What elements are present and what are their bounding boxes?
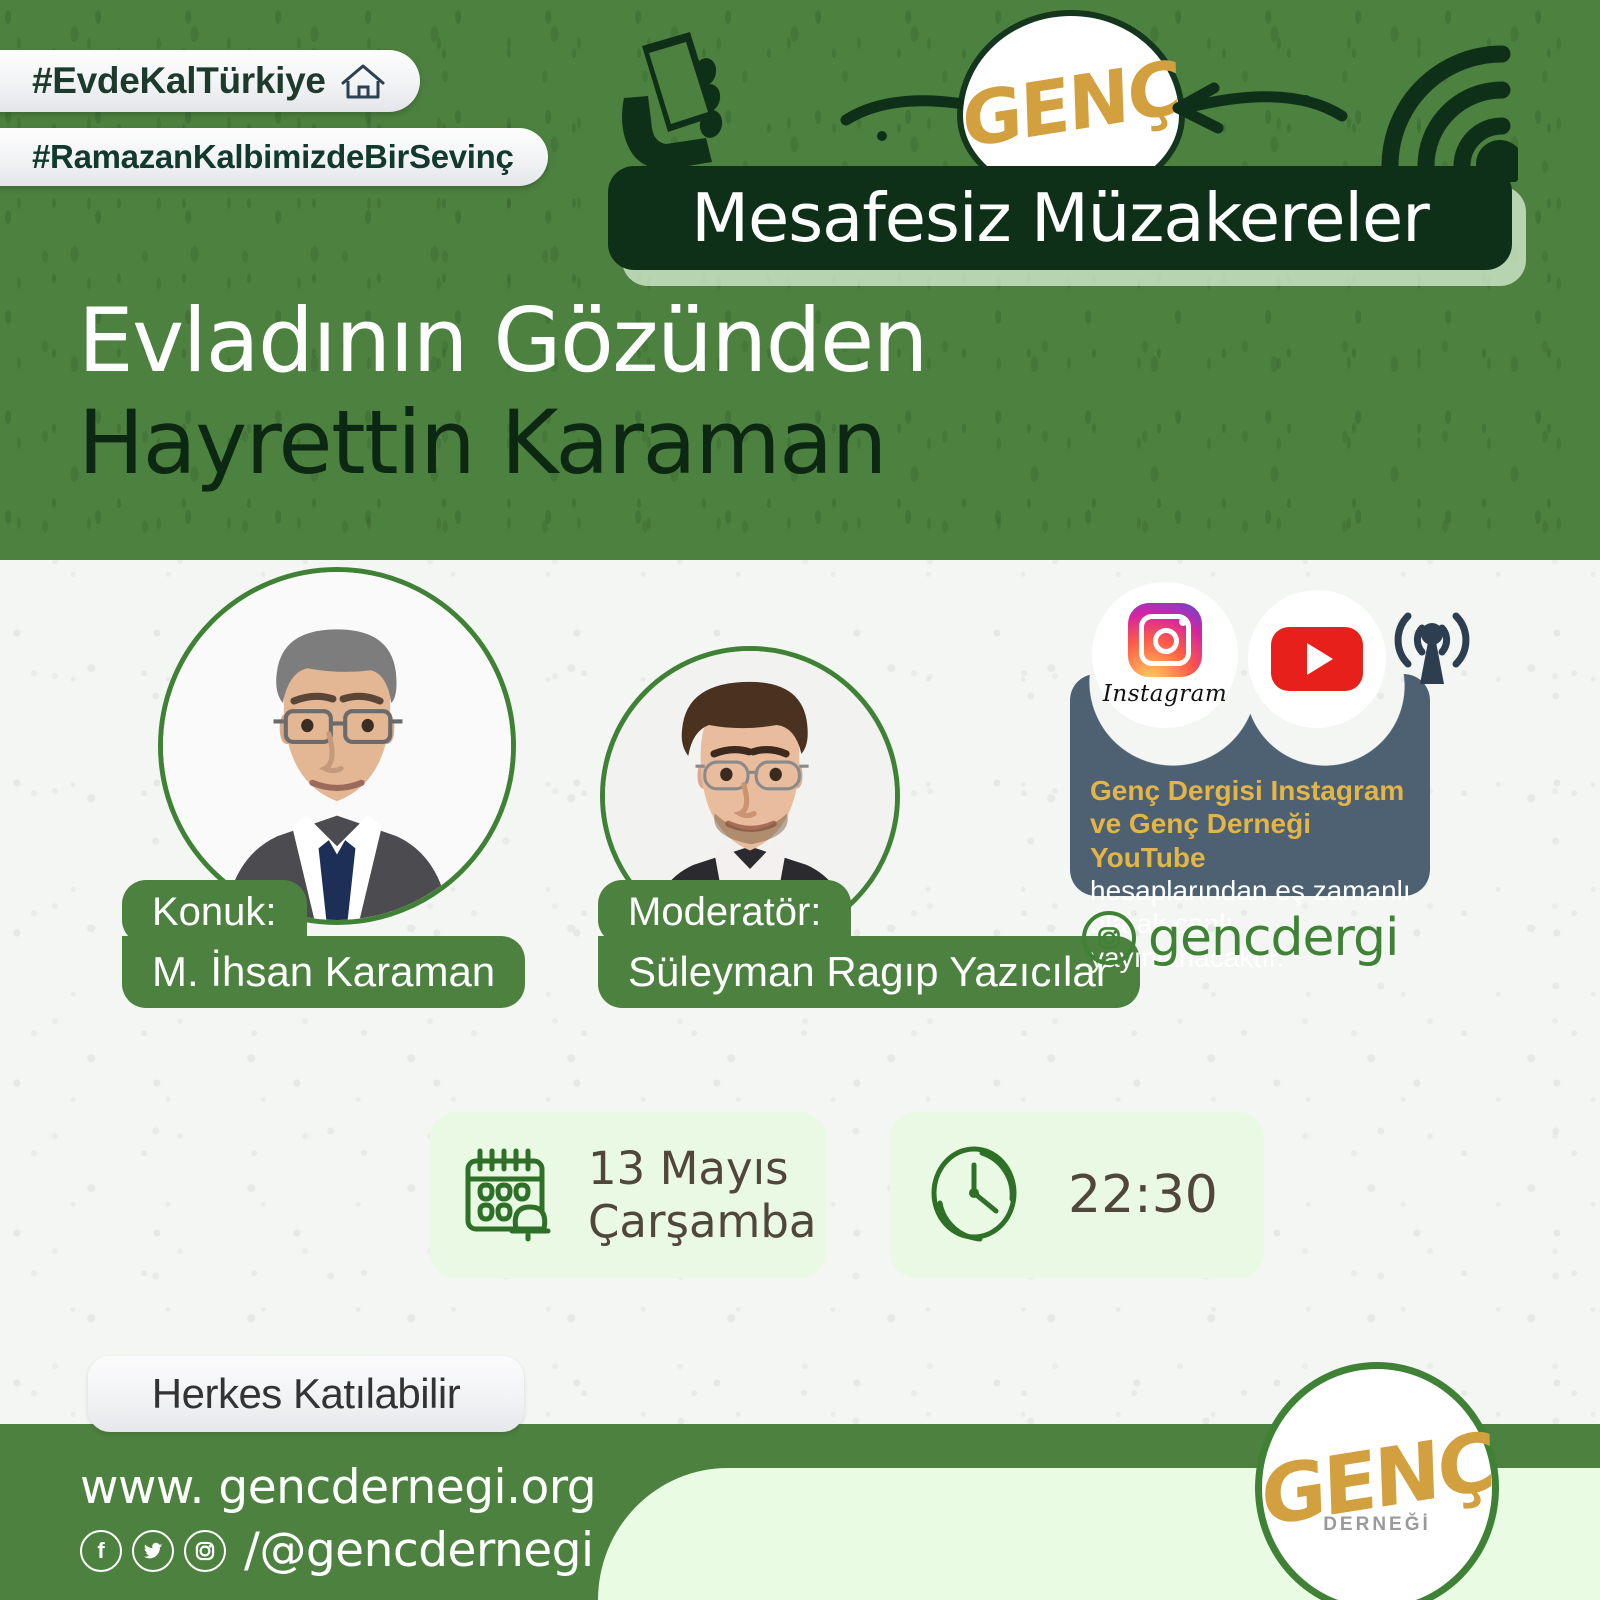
phone-in-hand-icon xyxy=(612,28,732,188)
genc-dernegi-logo: GENÇ DERNEĞİ xyxy=(1255,1362,1499,1600)
event-date-chip: 13 Mayıs Çarşamba xyxy=(430,1112,826,1278)
instagram-icon[interactable] xyxy=(184,1530,226,1572)
hashtag-label: #EvdeKalTürkiye xyxy=(32,60,326,102)
broadcast-info-card: Instagram Genç Dergisi Instagram ve Genç… xyxy=(1062,582,1442,962)
home-icon xyxy=(340,61,386,101)
event-date-line-2: Çarşamba xyxy=(588,1195,817,1248)
event-date-line-1: 13 Mayıs xyxy=(588,1142,817,1195)
gencdergi-handle[interactable]: gencdergi xyxy=(1082,908,1398,968)
facebook-icon[interactable]: f xyxy=(80,1530,122,1572)
broadcast-gold-line-1: Genç Dergisi Instagram xyxy=(1090,774,1420,807)
poster-canvas: #EvdeKalTürkiye #RamazanKalbimizdeBirSev… xyxy=(0,0,1600,1600)
page-title: Evladının Gözünden Hayrettin Karaman xyxy=(78,296,1178,488)
headline-line-2: Hayrettin Karaman xyxy=(78,398,1178,488)
moderator-role-label: Moderatör: xyxy=(628,890,821,935)
banner-title: Mesafesiz Müzakereler xyxy=(691,179,1429,257)
broadcast-white-line-1: hesaplarından eş zamanlı xyxy=(1090,874,1420,907)
social-handles-row: f /@gencdernegi xyxy=(80,1523,596,1578)
event-time-label: 22:30 xyxy=(1068,1165,1218,1225)
genc-dernegi-wordmark: GENÇ xyxy=(1260,1421,1494,1538)
website-url[interactable]: www. gencdernegi.org xyxy=(80,1460,596,1515)
guest-role-pill: Konuk: xyxy=(122,880,307,944)
avatar-guest xyxy=(158,567,516,925)
guest-portrait xyxy=(163,572,511,920)
hashtag-evdekalturkiye: #EvdeKalTürkiye xyxy=(0,50,420,112)
twitter-icon[interactable] xyxy=(132,1530,174,1572)
event-time-chip: 22:30 xyxy=(890,1112,1264,1278)
instagram-outline-icon xyxy=(1082,911,1136,965)
clock-icon xyxy=(924,1141,1028,1250)
guest-role-label: Konuk: xyxy=(152,890,277,935)
hashtag-label: #RamazanKalbimizdeBirSevinç xyxy=(32,138,514,176)
youtube-icon xyxy=(1271,627,1363,691)
gencdergi-handle-label: gencdergi xyxy=(1148,908,1398,968)
guest-name-label: M. İhsan Karaman xyxy=(152,948,495,996)
moderator-role-pill: Moderatör: xyxy=(598,880,851,944)
genc-brand-text: GENÇ xyxy=(961,45,1181,166)
broadcast-gold-line-2: ve Genç Derneği YouTube xyxy=(1090,807,1420,874)
youtube-badge xyxy=(1248,590,1386,728)
instagram-icon xyxy=(1128,603,1202,677)
social-handle-label[interactable]: /@gencdernegi xyxy=(244,1523,594,1578)
guest-name-pill: M. İhsan Karaman xyxy=(122,936,525,1008)
arrow-left-icon xyxy=(1150,72,1350,144)
broadcast-antenna-icon xyxy=(1384,598,1480,686)
calendar-alarm-icon xyxy=(458,1141,562,1250)
moderator-name-pill: Süleyman Ragıp Yazıcılar xyxy=(598,936,1140,1008)
wifi-signal-icon xyxy=(1368,32,1518,182)
footer-contact: www. gencdernegi.org f /@gencdernegi xyxy=(80,1460,596,1578)
headline-line-1: Evladının Gözünden xyxy=(78,296,1178,386)
moderator-name-label: Süleyman Ragıp Yazıcılar xyxy=(628,948,1110,996)
instagram-wordmark: Instagram xyxy=(1103,681,1227,707)
open-to-all-label: Herkes Katılabilir xyxy=(152,1370,460,1418)
instagram-badge: Instagram xyxy=(1092,582,1238,728)
hashtag-ramazan: #RamazanKalbimizdeBirSevinç xyxy=(0,128,548,186)
open-to-all-badge: Herkes Katılabilir xyxy=(88,1356,524,1432)
banner-mesafesiz-muzakereler: Mesafesiz Müzakereler xyxy=(608,166,1512,270)
